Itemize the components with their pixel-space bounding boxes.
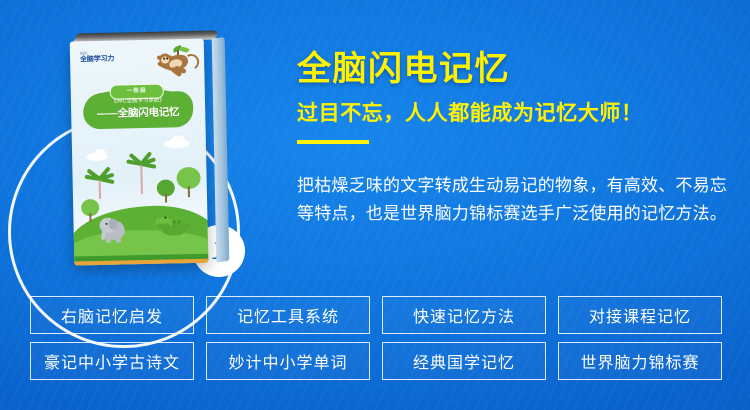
feature-label: 经典国学记忆 bbox=[413, 349, 515, 373]
cover-title-plate: 一阶段 《IMC全脑学习系统》 ——全脑闪电记忆 bbox=[83, 83, 194, 129]
crocodile-icon bbox=[155, 213, 190, 240]
feature-label: 右脑记忆启发 bbox=[61, 303, 163, 327]
feature-label: 记忆工具系统 bbox=[237, 303, 339, 327]
page-subtitle: 过目不忘，人人都能成为记忆大师！ bbox=[297, 103, 643, 124]
monkey-mascot-icon bbox=[156, 46, 197, 81]
feature-label: 妙计中小学单词 bbox=[228, 349, 347, 373]
feature-item[interactable]: 妙计中小学单词 bbox=[206, 342, 370, 380]
product-box-side-panel bbox=[212, 37, 230, 263]
description-text: 把枯燥乏味的文字转成生动易记的物象，有高效、不易忘等特点，也是世界脑力锦标赛选手… bbox=[297, 172, 727, 227]
feature-item[interactable]: 右脑记忆启发 bbox=[30, 296, 194, 334]
feature-item[interactable]: 对接课程记忆 bbox=[558, 296, 722, 334]
feature-label: 豪记中小学古诗文 bbox=[44, 349, 180, 373]
product-box-image: IMC 全脑学习力 一阶段 《IMC全脑学习系统》 —— bbox=[70, 30, 221, 269]
product-box-front-cover: IMC 全脑学习力 一阶段 《IMC全脑学习系统》 —— bbox=[70, 39, 209, 266]
brand-logo: IMC 全脑学习力 bbox=[80, 52, 114, 64]
promo-banner: 1 IMC 全脑学习力 bbox=[0, 0, 750, 410]
page-title: 全脑闪电记忆 bbox=[297, 52, 510, 86]
feature-grid: 右脑记忆启发 记忆工具系统 快速记忆方法 对接课程记忆 豪记中小学古诗文 妙计中… bbox=[30, 296, 722, 380]
stage-label: 一阶段 bbox=[127, 89, 147, 95]
feature-label: 世界脑力锦标赛 bbox=[580, 349, 699, 373]
feature-item[interactable]: 世界脑力锦标赛 bbox=[558, 342, 722, 380]
brand-logo-main: 全脑学习力 bbox=[80, 56, 114, 64]
elephant-icon bbox=[99, 212, 130, 243]
feature-item[interactable]: 豪记中小学古诗文 bbox=[30, 342, 194, 380]
brand-logo-sub: IMC bbox=[80, 52, 119, 57]
feature-item[interactable]: 快速记忆方法 bbox=[382, 296, 546, 334]
feature-item[interactable]: 记忆工具系统 bbox=[206, 296, 370, 334]
feature-label: 快速记忆方法 bbox=[413, 303, 515, 327]
feature-item[interactable]: 经典国学记忆 bbox=[382, 342, 546, 380]
cover-title: ——全脑闪电记忆 bbox=[83, 107, 193, 121]
feature-label: 对接课程记忆 bbox=[589, 303, 691, 327]
title-divider bbox=[297, 140, 369, 144]
